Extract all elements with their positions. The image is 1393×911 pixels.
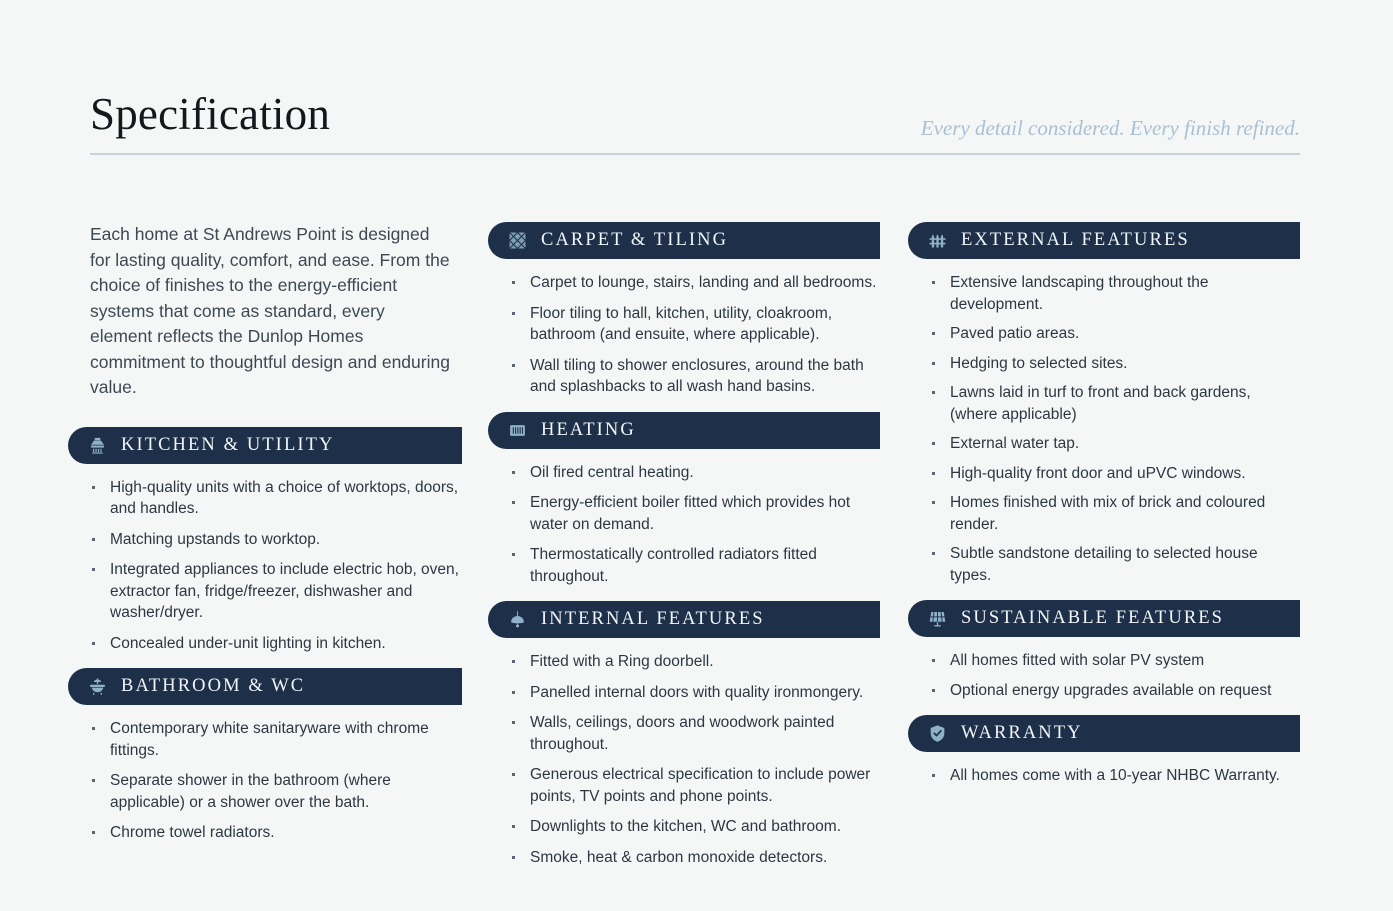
list-item: Chrome towel radiators. bbox=[88, 822, 468, 844]
bathtub-icon bbox=[88, 677, 107, 696]
section-list-bathroom-wc: Contemporary white sanitaryware with chr… bbox=[68, 705, 468, 844]
radiator-icon bbox=[508, 421, 527, 440]
column-middle: Carpet & TilingCarpet to lounge, stairs,… bbox=[488, 222, 888, 882]
list-item: High-quality units with a choice of work… bbox=[88, 477, 468, 520]
section-list-sustainable-features: All homes fitted with solar PV systemOpt… bbox=[908, 637, 1300, 701]
cooker-hood-icon bbox=[88, 436, 107, 455]
section-list-internal-features: Fitted with a Ring doorbell.Panelled int… bbox=[488, 638, 888, 868]
section-header-sustainable-features[interactable]: Sustainable Features bbox=[908, 600, 1300, 637]
list-item: Separate shower in the bathroom (where a… bbox=[88, 770, 468, 813]
section-list-carpet-tiling: Carpet to lounge, stairs, landing and al… bbox=[488, 259, 888, 398]
crosshatch-tile-icon bbox=[508, 231, 527, 250]
section-list-heating: Oil fired central heating.Energy-efficie… bbox=[488, 449, 888, 588]
list-item: Energy-efficient boiler fitted which pro… bbox=[508, 492, 888, 535]
section-header-bathroom-wc[interactable]: Bathroom & WC bbox=[68, 668, 462, 705]
section-title-warranty: Warranty bbox=[961, 723, 1083, 744]
intro-paragraph: Each home at St Andrews Point is designe… bbox=[68, 222, 450, 401]
section-title-external-features: External Features bbox=[961, 230, 1190, 251]
sections-middle: Carpet & TilingCarpet to lounge, stairs,… bbox=[488, 222, 888, 868]
sections-right: External FeaturesExtensive landscaping t… bbox=[908, 222, 1300, 787]
list-item: Smoke, heat & carbon monoxide detectors. bbox=[508, 847, 888, 869]
pendant-lamp-icon bbox=[508, 610, 527, 629]
list-item: Panelled internal doors with quality iro… bbox=[508, 682, 888, 704]
title-divider bbox=[90, 153, 1300, 155]
list-item: Wall tiling to shower enclosures, around… bbox=[508, 355, 888, 398]
section-list-warranty: All homes come with a 10-year NHBC Warra… bbox=[908, 752, 1300, 787]
list-item: Oil fired central heating. bbox=[508, 462, 888, 484]
list-item: Hedging to selected sites. bbox=[928, 353, 1300, 375]
section-header-warranty[interactable]: Warranty bbox=[908, 715, 1300, 752]
list-item: Concealed under-unit lighting in kitchen… bbox=[88, 633, 468, 655]
sections-left: Kitchen & UtilityHigh-quality units with… bbox=[68, 427, 468, 844]
list-item: Subtle sandstone detailing to selected h… bbox=[928, 543, 1300, 586]
section-bathroom-wc: Bathroom & WCContemporary white sanitary… bbox=[68, 668, 468, 844]
list-item: Optional energy upgrades available on re… bbox=[928, 680, 1300, 702]
list-item: Thermostatically controlled radiators fi… bbox=[508, 544, 888, 587]
list-item: Extensive landscaping throughout the dev… bbox=[928, 272, 1300, 315]
section-title-internal-features: Internal Features bbox=[541, 609, 765, 630]
list-item: Homes finished with mix of brick and col… bbox=[928, 492, 1300, 535]
list-item: External water tap. bbox=[928, 433, 1300, 455]
section-kitchen-utility: Kitchen & UtilityHigh-quality units with… bbox=[68, 427, 468, 655]
section-heating: HeatingOil fired central heating.Energy-… bbox=[488, 412, 888, 588]
list-item: Matching upstands to worktop. bbox=[88, 529, 468, 551]
specification-page: Specification Every detail considered. E… bbox=[0, 0, 1393, 911]
section-header-external-features[interactable]: External Features bbox=[908, 222, 1300, 259]
list-item: Generous electrical specification to inc… bbox=[508, 764, 888, 807]
section-title-carpet-tiling: Carpet & Tiling bbox=[541, 230, 728, 251]
section-header-kitchen-utility[interactable]: Kitchen & Utility bbox=[68, 427, 462, 464]
list-item: All homes fitted with solar PV system bbox=[928, 650, 1300, 672]
list-item: Paved patio areas. bbox=[928, 323, 1300, 345]
column-right: External FeaturesExtensive landscaping t… bbox=[908, 222, 1300, 801]
section-header-heating[interactable]: Heating bbox=[488, 412, 880, 449]
page-title: Specification bbox=[90, 92, 330, 137]
section-header-carpet-tiling[interactable]: Carpet & Tiling bbox=[488, 222, 880, 259]
shield-check-icon bbox=[928, 724, 947, 743]
list-item: Floor tiling to hall, kitchen, utility, … bbox=[508, 303, 888, 346]
page-header: Specification Every detail considered. E… bbox=[90, 92, 1300, 154]
section-list-kitchen-utility: High-quality units with a choice of work… bbox=[68, 464, 468, 655]
solar-panel-icon bbox=[928, 609, 947, 628]
section-title-kitchen-utility: Kitchen & Utility bbox=[121, 435, 334, 456]
list-item: Lawns laid in turf to front and back gar… bbox=[928, 382, 1300, 425]
section-list-external-features: Extensive landscaping throughout the dev… bbox=[908, 259, 1300, 586]
list-item: Walls, ceilings, doors and woodwork pain… bbox=[508, 712, 888, 755]
section-internal-features: Internal FeaturesFitted with a Ring door… bbox=[488, 601, 888, 868]
page-tagline: Every detail considered. Every finish re… bbox=[921, 116, 1300, 141]
section-title-bathroom-wc: Bathroom & WC bbox=[121, 676, 305, 697]
section-title-sustainable-features: Sustainable Features bbox=[961, 608, 1224, 629]
section-sustainable-features: Sustainable FeaturesAll homes fitted wit… bbox=[908, 600, 1300, 701]
section-carpet-tiling: Carpet & TilingCarpet to lounge, stairs,… bbox=[488, 222, 888, 398]
section-header-internal-features[interactable]: Internal Features bbox=[488, 601, 880, 638]
list-item: High-quality front door and uPVC windows… bbox=[928, 463, 1300, 485]
section-warranty: WarrantyAll homes come with a 10-year NH… bbox=[908, 715, 1300, 787]
fence-icon bbox=[928, 231, 947, 250]
list-item: Fitted with a Ring doorbell. bbox=[508, 651, 888, 673]
section-external-features: External FeaturesExtensive landscaping t… bbox=[908, 222, 1300, 586]
list-item: Downlights to the kitchen, WC and bathro… bbox=[508, 816, 888, 838]
list-item: All homes come with a 10-year NHBC Warra… bbox=[928, 765, 1300, 787]
column-left: Each home at St Andrews Point is designe… bbox=[68, 222, 468, 858]
list-item: Contemporary white sanitaryware with chr… bbox=[88, 718, 468, 761]
section-title-heating: Heating bbox=[541, 420, 636, 441]
list-item: Integrated appliances to include electri… bbox=[88, 559, 468, 624]
list-item: Carpet to lounge, stairs, landing and al… bbox=[508, 272, 888, 294]
